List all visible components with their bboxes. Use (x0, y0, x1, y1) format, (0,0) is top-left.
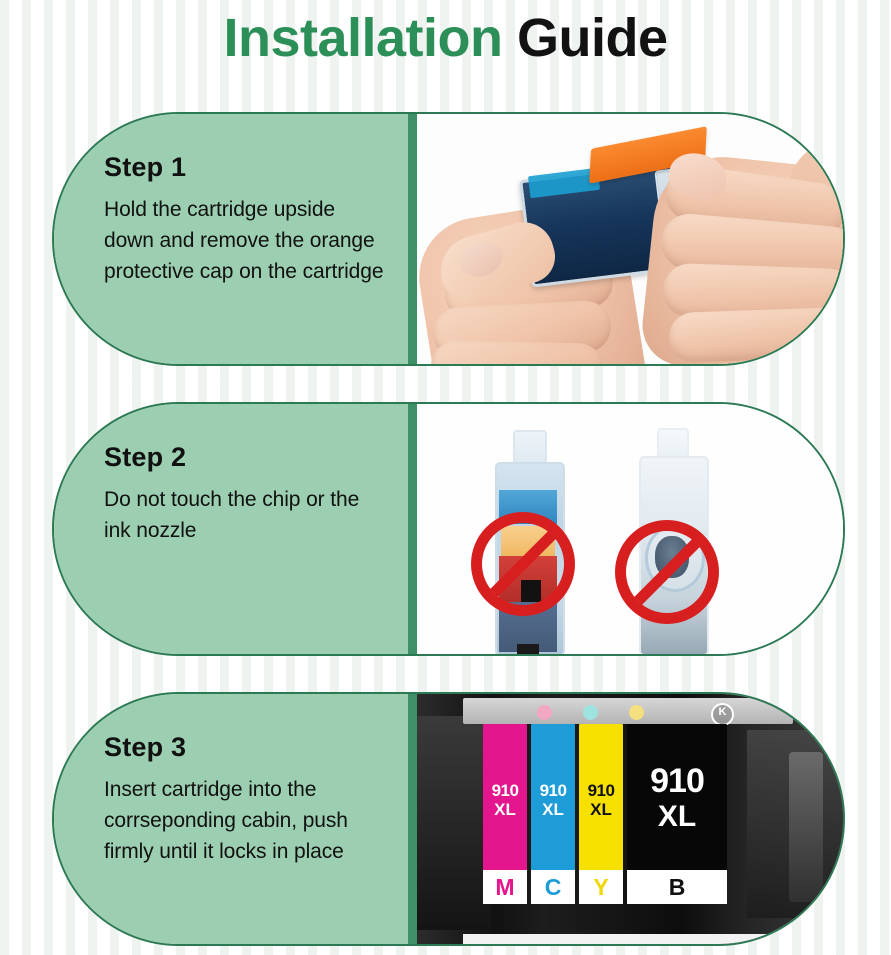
cartridge-nozzle-tip (517, 644, 539, 654)
installed-cartridge-magenta: 910 XL M (483, 724, 527, 904)
cartridge-black-code: B (627, 870, 727, 904)
cartridge-magenta-code: M (483, 870, 527, 904)
prohibition-sign-nozzle-icon (615, 520, 719, 624)
cartridge-magenta-model: 910 (492, 782, 519, 799)
page-title: Installation Guide (0, 8, 891, 68)
step-3-body: Insert cartridge into the corrseponding … (104, 775, 386, 868)
step-1-image (417, 114, 843, 364)
black-k-badge-icon: K (711, 703, 734, 726)
cyan-dot-icon (583, 705, 598, 720)
right-hand-finger-4 (668, 307, 843, 363)
do-not-touch-illustration (417, 404, 843, 654)
installed-cartridge-yellow: 910 XL Y (579, 724, 623, 904)
step-card-2: Step 2 Do not touch the chip or the ink … (52, 402, 845, 656)
step-3-text-panel: Step 3 Insert cartridge into the corrsep… (54, 694, 417, 944)
magenta-dot-icon (537, 705, 552, 720)
step-3-heading: Step 3 (104, 732, 386, 763)
cartridge-cyan-code: C (531, 870, 575, 904)
printer-bay-bottom-edge (463, 934, 793, 944)
cartridge-cyan-size: XL (542, 801, 564, 818)
step-2-text-panel: Step 2 Do not touch the chip or the ink … (54, 404, 417, 654)
cartridge-yellow-model: 910 (588, 782, 615, 799)
printer-top-color-bar: K (463, 698, 793, 724)
printer-bay-illustration: K 910 XL M 910 XL C 910 XL Y (417, 694, 843, 944)
step-1-body: Hold the cartridge upside down and remov… (104, 195, 386, 288)
cartridge-magenta-size: XL (494, 801, 516, 818)
installation-guide-page: Installation Guide Step 1 Hold the cartr… (0, 0, 891, 955)
cartridge-yellow-size: XL (590, 801, 612, 818)
hands-cartridge-illustration (417, 114, 843, 364)
step-2-body: Do not touch the chip or the ink nozzle (104, 485, 386, 547)
printer-left-wall (417, 716, 491, 930)
page-title-black-part: Guide (517, 8, 668, 68)
step-3-image: K 910 XL M 910 XL C 910 XL Y (417, 694, 843, 944)
cartridge-black-size: XL (658, 802, 696, 832)
prohibition-sign-chip-icon (471, 512, 575, 616)
step-card-1: Step 1 Hold the cartridge upside down an… (52, 112, 845, 366)
cartridge-black-model: 910 (650, 764, 704, 798)
cartridge-yellow-code: Y (579, 870, 623, 904)
step-card-3: Step 3 Insert cartridge into the corrsep… (52, 692, 845, 946)
step-1-text-panel: Step 1 Hold the cartridge upside down an… (54, 114, 417, 364)
step-2-heading: Step 2 (104, 442, 386, 473)
step-1-heading: Step 1 (104, 152, 386, 183)
installed-cartridge-cyan: 910 XL C (531, 724, 575, 904)
step-2-image (417, 404, 843, 654)
cartridge-cyan-model: 910 (540, 782, 567, 799)
printer-rail-post (789, 752, 823, 902)
yellow-dot-icon (629, 705, 644, 720)
installed-cartridge-black: 910 XL B (627, 724, 727, 904)
page-title-green-part: Installation (223, 8, 502, 68)
left-hand-finger-3 (431, 341, 604, 364)
